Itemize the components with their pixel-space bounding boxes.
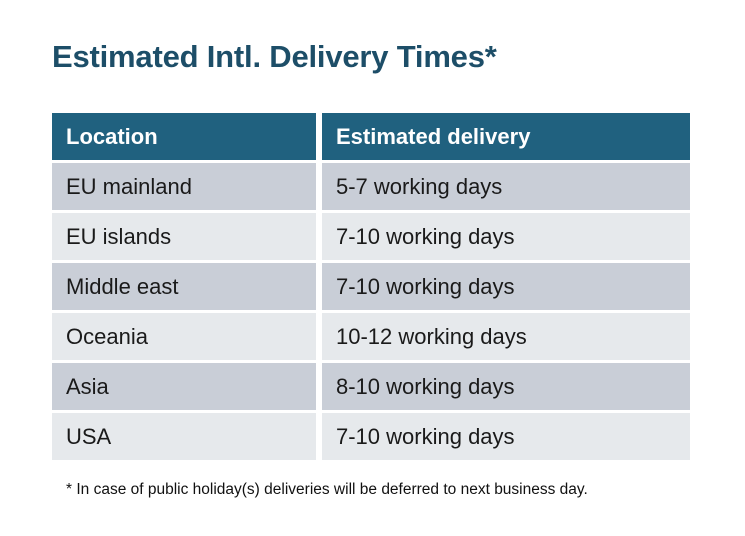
table-row: Asia 8-10 working days [52,363,690,410]
table-row: EU islands 7-10 working days [52,213,690,260]
table-header-row: Location Estimated delivery [52,113,690,160]
cell-location: EU islands [52,213,316,260]
table-row: Oceania 10-12 working days [52,313,690,360]
table-row: EU mainland 5-7 working days [52,163,690,210]
footnote: * In case of public holiday(s) deliverie… [66,479,588,501]
delivery-times-table: Location Estimated delivery EU mainland … [52,113,690,460]
table-row: USA 7-10 working days [52,413,690,460]
cell-estimated-delivery: 7-10 working days [322,213,690,260]
cell-estimated-delivery: 7-10 working days [322,413,690,460]
table-row: Middle east 7-10 working days [52,263,690,310]
cell-location: Oceania [52,313,316,360]
cell-estimated-delivery: 5-7 working days [322,163,690,210]
cell-estimated-delivery: 8-10 working days [322,363,690,410]
cell-estimated-delivery: 7-10 working days [322,263,690,310]
cell-location: Middle east [52,263,316,310]
cell-location: USA [52,413,316,460]
cell-estimated-delivery: 10-12 working days [322,313,690,360]
cell-location: EU mainland [52,163,316,210]
delivery-times-page: Estimated Intl. Delivery Times* Location… [0,0,745,536]
column-header-estimated-delivery: Estimated delivery [322,113,690,160]
column-header-location: Location [52,113,316,160]
page-title: Estimated Intl. Delivery Times* [52,37,497,77]
cell-location: Asia [52,363,316,410]
